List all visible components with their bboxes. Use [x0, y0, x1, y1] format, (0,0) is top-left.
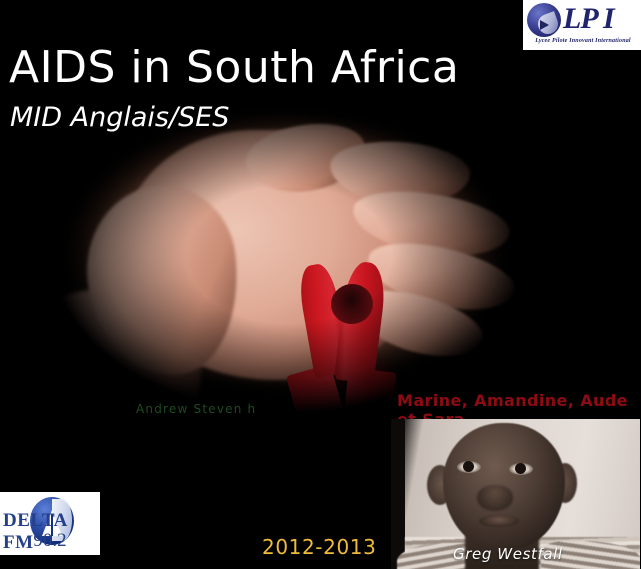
nose-shape	[477, 485, 513, 511]
lp2i-wordmark: LP I	[563, 1, 614, 37]
lp2i-wordmark-text: LP I	[563, 2, 614, 35]
mouth-shape	[479, 515, 519, 527]
child-photo-credit: Greg Westfall	[453, 545, 563, 563]
pupil-left	[463, 461, 474, 472]
delta-fm-frequency: 90.2	[0, 530, 100, 552]
presentation-slide: AIDS in South Africa MID Anglais/SES And…	[0, 0, 641, 569]
pupil-right	[515, 463, 526, 474]
page-title: AIDS in South Africa	[9, 46, 459, 90]
school-year-label: 2012-2013	[262, 535, 376, 559]
page-subtitle: MID Anglais/SES	[10, 104, 229, 131]
arrow-icon	[540, 20, 549, 30]
portrait-left-edge	[391, 419, 405, 569]
lp2i-tagline: Lycee Pilote Innovant International	[525, 38, 641, 44]
child-portrait-photo: Greg Westfall	[391, 419, 640, 569]
hand-ribbon-photo	[0, 90, 641, 420]
lp2i-logo[interactable]: LP I Lycee Pilote Innovant International	[523, 0, 641, 50]
photo-vignette	[0, 90, 641, 420]
globe-icon	[527, 3, 561, 37]
delta-fm-logo[interactable]: DELTA FM 90.2	[0, 492, 100, 555]
hand-photo-credit: Andrew Steven h	[136, 402, 256, 416]
